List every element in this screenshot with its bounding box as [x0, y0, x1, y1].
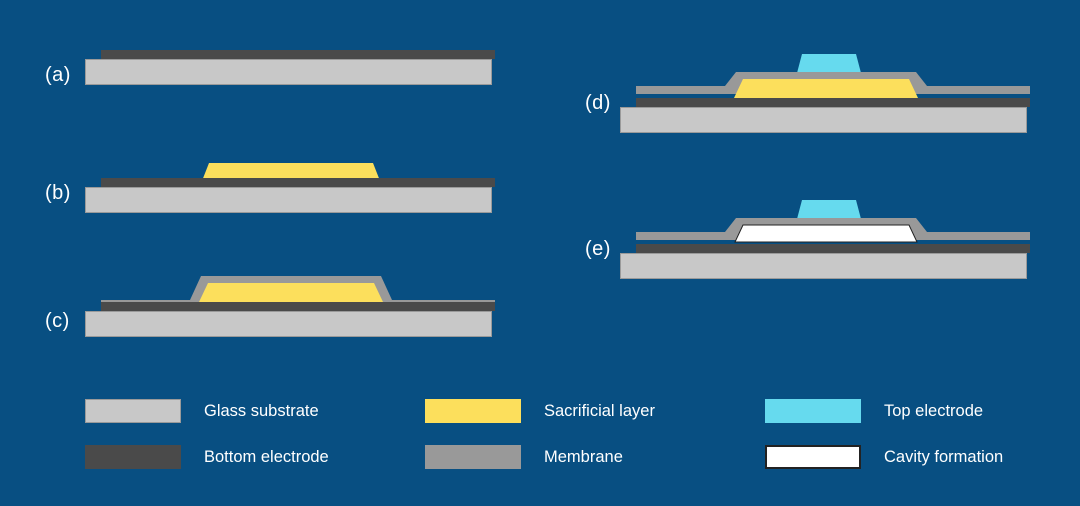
glass-substrate-layer: [86, 188, 492, 213]
top-electrode-layer: [797, 54, 861, 73]
bottom-electrode-layer: [636, 98, 1030, 107]
legend-label-glass-substrate: Glass substrate: [204, 402, 319, 421]
legend-label-sacrificial-layer: Sacrificial layer: [544, 402, 655, 421]
sacrificial-layer-swatch: [425, 399, 521, 423]
glass-substrate-layer: [86, 312, 492, 337]
figure-canvas: (a) (b) (c): [0, 0, 1080, 506]
panel-c-cross-section: [85, 262, 495, 352]
legend-item-cavity-formation: Cavity formation: [765, 445, 1045, 469]
bottom-electrode-swatch: [85, 445, 181, 469]
membrane-swatch: [425, 445, 521, 469]
legend-label-cavity-formation: Cavity formation: [884, 448, 1003, 467]
panel-d-label: (d): [585, 92, 611, 115]
cavity-formation: [735, 225, 917, 242]
panel-b-cross-section: [85, 148, 495, 228]
glass-substrate-swatch: [85, 399, 181, 423]
panel-a-label: (a): [45, 64, 71, 87]
legend-item-bottom-electrode: Bottom electrode: [85, 445, 425, 469]
legend-item-sacrificial-layer: Sacrificial layer: [425, 399, 765, 423]
legend-label-bottom-electrode: Bottom electrode: [204, 448, 329, 467]
legend-item-membrane: Membrane: [425, 445, 765, 469]
panel-a: (a): [0, 0, 540, 120]
panel-e-label: (e): [585, 238, 611, 261]
cavity-formation-swatch: [765, 445, 861, 469]
bottom-electrode-layer: [101, 302, 495, 311]
panel-e: (e): [540, 160, 1080, 280]
legend-label-membrane: Membrane: [544, 448, 623, 467]
legend-item-top-electrode: Top electrode: [765, 399, 1045, 423]
legend-row: Glass substrate Sacrificial layer Top el…: [85, 388, 1045, 434]
glass-substrate-layer: [621, 108, 1027, 133]
panel-e-cross-section: [620, 184, 1030, 284]
top-electrode-layer: [797, 200, 861, 219]
panel-b-label: (b): [45, 182, 71, 205]
panel-c: (c): [0, 252, 540, 362]
bottom-electrode-layer: [101, 50, 495, 59]
panel-d-cross-section: [620, 38, 1030, 138]
sacrificial-layer: [734, 79, 918, 98]
panel-a-cross-section: [85, 45, 495, 100]
legend: Glass substrate Sacrificial layer Top el…: [85, 388, 1045, 480]
legend-row: Bottom electrode Membrane Cavity formati…: [85, 434, 1045, 480]
legend-label-top-electrode: Top electrode: [884, 402, 983, 421]
glass-substrate-layer: [621, 254, 1027, 279]
panel-c-label: (c): [45, 310, 70, 333]
glass-substrate-layer: [86, 60, 492, 85]
panel-b: (b): [0, 130, 540, 235]
legend-item-glass-substrate: Glass substrate: [85, 399, 425, 423]
bottom-electrode-layer: [101, 178, 495, 187]
top-electrode-swatch: [765, 399, 861, 423]
sacrificial-layer: [199, 283, 383, 302]
bottom-electrode-layer: [636, 244, 1030, 253]
panel-d: (d): [540, 20, 1080, 140]
